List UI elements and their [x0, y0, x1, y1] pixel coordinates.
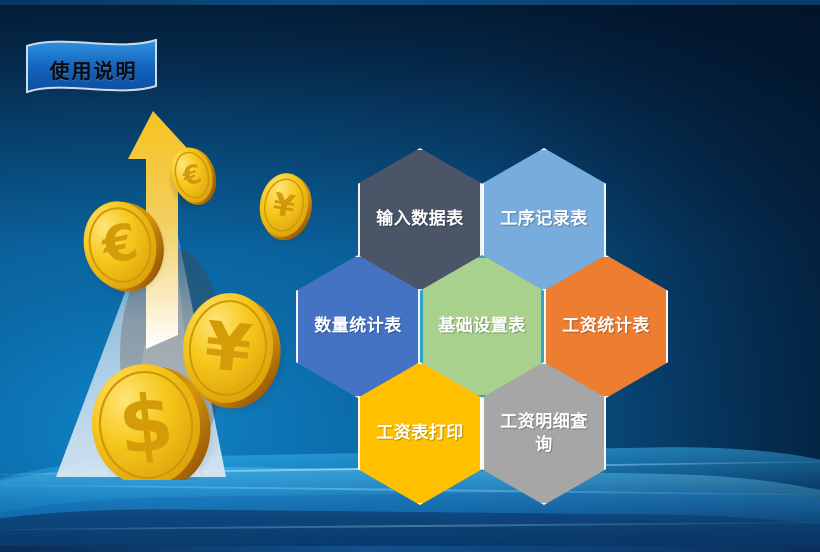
hex-label-quantity-stats-table: 数量统计表	[314, 315, 402, 337]
banner-title-text: 使用说明	[24, 36, 159, 102]
hex-label-process-record-table: 工序记录表	[500, 208, 588, 230]
title-banner: 使用说明	[24, 36, 159, 102]
hex-label-input-data-table: 输入数据表	[376, 208, 464, 230]
hex-label-salary-stats-table: 工资统计表	[562, 315, 650, 337]
svg-text:$: $	[114, 377, 177, 472]
honeycomb-menu: 输入数据表 工序记录表 数量统计表 基础设置表 工资统计表 工资表打印 工资明细…	[296, 148, 668, 474]
bottom-edge-bar	[0, 546, 820, 552]
slide-canvas: € ¥ €	[0, 0, 820, 552]
background-top-bar	[0, 0, 820, 5]
hex-label-base-settings-table: 基础设置表	[438, 315, 526, 337]
svg-text:¥: ¥	[201, 307, 255, 388]
hex-label-salary-sheet-print: 工资表打印	[376, 422, 464, 444]
gold-coins-growth-arrow: € ¥ €	[50, 105, 320, 480]
hex-label-salary-detail-query: 工资明细查询	[500, 411, 588, 456]
